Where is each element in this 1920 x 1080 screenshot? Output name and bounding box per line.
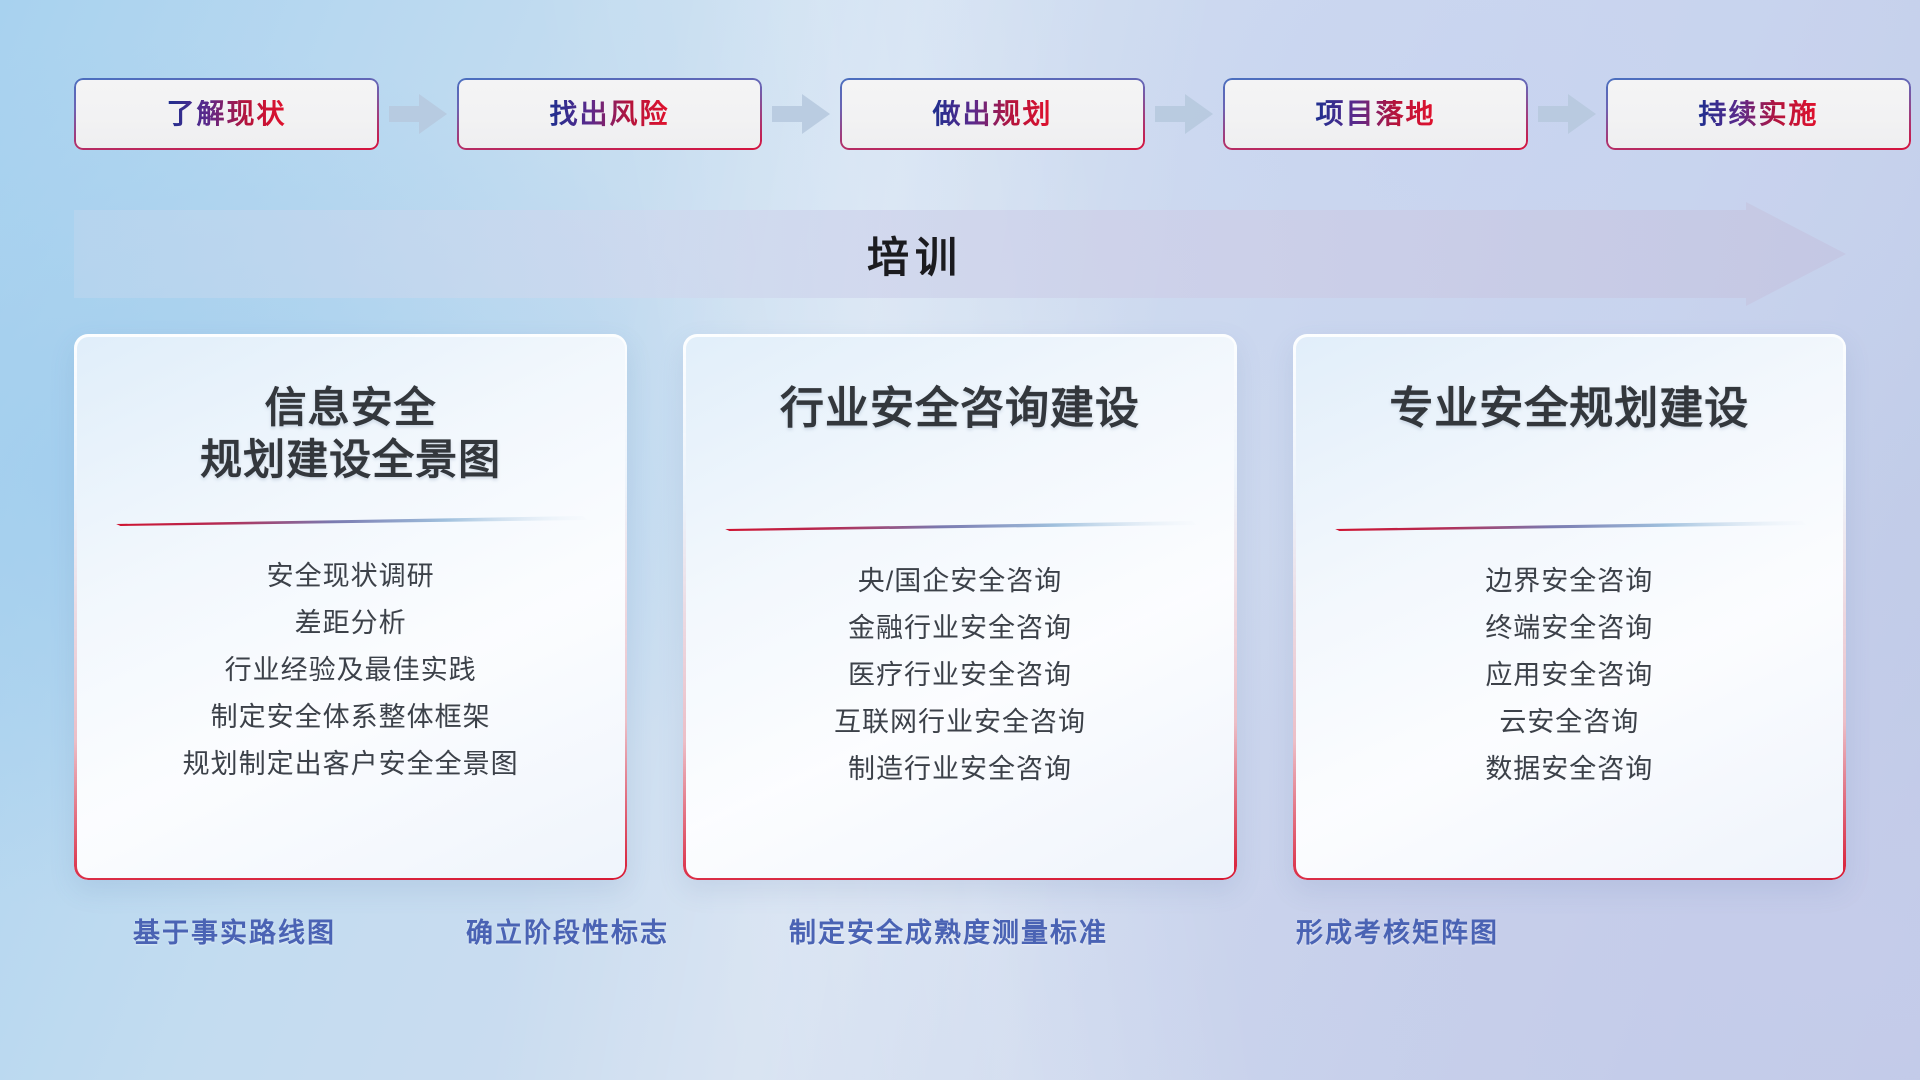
- card-list-item: 互联网行业安全咨询: [717, 699, 1202, 746]
- caption-maturity-standard: 制定安全成熟度测量标准: [789, 920, 1108, 947]
- process-step-label: 做出规划: [932, 100, 1052, 128]
- right-arrow-icon: [1153, 92, 1215, 136]
- caption-roadmap: 基于事实路线图: [133, 920, 336, 947]
- right-arrow-icon: [387, 92, 449, 136]
- caption-assessment-matrix: 形成考核矩阵图: [1296, 920, 1499, 947]
- process-step-label: 找出风险: [549, 100, 669, 128]
- process-step-1[interactable]: 找出风险: [457, 78, 762, 150]
- card-divider: [723, 518, 1196, 532]
- card-item-list: 安全现状调研 差距分析 行业经验及最佳实践 制定安全体系整体框架 规划制定出客户…: [108, 553, 593, 788]
- card-divider: [1333, 518, 1806, 532]
- right-arrow-icon: [770, 92, 832, 136]
- process-step-4[interactable]: 持续实施: [1606, 78, 1911, 150]
- card-title-line: 信息安全: [108, 382, 593, 434]
- card-list-item: 应用安全咨询: [1327, 652, 1812, 699]
- card-list-item: 数据安全咨询: [1327, 746, 1812, 793]
- card-title-line: 规划建设全景图: [108, 434, 593, 486]
- card-list-item: 边界安全咨询: [1327, 558, 1812, 605]
- card-list-item: 医疗行业安全咨询: [717, 652, 1202, 699]
- caption-row: 基于事实路线图 确立阶段性标志 制定安全成熟度测量标准 形成考核矩阵图: [0, 920, 1920, 970]
- process-step-flow: 了解现状 找出风险 做出规划 项目落地 持续实施: [74, 78, 1846, 150]
- card-list-item: 安全现状调研: [108, 553, 593, 600]
- process-step-label: 项目落地: [1315, 100, 1435, 128]
- card-list-item: 终端安全咨询: [1327, 605, 1812, 652]
- card-list-item: 金融行业安全咨询: [717, 605, 1202, 652]
- card-list-item: 规划制定出客户安全全景图: [108, 741, 593, 788]
- card-list-item: 云安全咨询: [1327, 699, 1812, 746]
- process-step-label: 持续实施: [1698, 100, 1818, 128]
- card-professional-security-planning[interactable]: 专业安全规划建设 边界安全咨询 终端安全咨询 应用安全咨询 云安全咨询 数据安全…: [1293, 334, 1846, 880]
- card-list-item: 行业经验及最佳实践: [108, 647, 593, 694]
- card-list-item: 央/国企安全咨询: [717, 558, 1202, 605]
- card-list-item: 制定安全体系整体框架: [108, 694, 593, 741]
- card-industry-security-consulting[interactable]: 行业安全咨询建设 央/国企安全咨询 金融行业安全咨询 医疗行业安全咨询 互联网行…: [683, 334, 1236, 880]
- card-title: 行业安全咨询建设: [717, 382, 1202, 436]
- card-item-list: 央/国企安全咨询 金融行业安全咨询 医疗行业安全咨询 互联网行业安全咨询 制造行…: [717, 558, 1202, 793]
- card-list-item: 差距分析: [108, 600, 593, 647]
- caption-milestones: 确立阶段性标志: [466, 920, 669, 947]
- process-step-0[interactable]: 了解现状: [74, 78, 379, 150]
- training-banner: 培训: [74, 202, 1846, 306]
- card-divider: [114, 513, 587, 527]
- card-item-list: 边界安全咨询 终端安全咨询 应用安全咨询 云安全咨询 数据安全咨询: [1327, 558, 1812, 793]
- card-group: 信息安全 规划建设全景图 安全现状调研 差距分析 行业经验及最佳实践 制定安全体…: [74, 334, 1846, 880]
- card-title: 专业安全规划建设: [1327, 382, 1812, 436]
- right-arrow-icon: [1536, 92, 1598, 136]
- card-list-item: 制造行业安全咨询: [717, 746, 1202, 793]
- banner-title: 培训: [74, 202, 1846, 306]
- card-title-line: 专业安全规划建设: [1327, 382, 1812, 436]
- process-step-3[interactable]: 项目落地: [1223, 78, 1528, 150]
- card-title: 信息安全 规划建设全景图: [108, 382, 593, 485]
- process-step-label: 了解现状: [166, 100, 286, 128]
- card-information-security-panorama[interactable]: 信息安全 规划建设全景图 安全现状调研 差距分析 行业经验及最佳实践 制定安全体…: [74, 334, 627, 880]
- card-title-line: 行业安全咨询建设: [717, 382, 1202, 436]
- process-step-2[interactable]: 做出规划: [840, 78, 1145, 150]
